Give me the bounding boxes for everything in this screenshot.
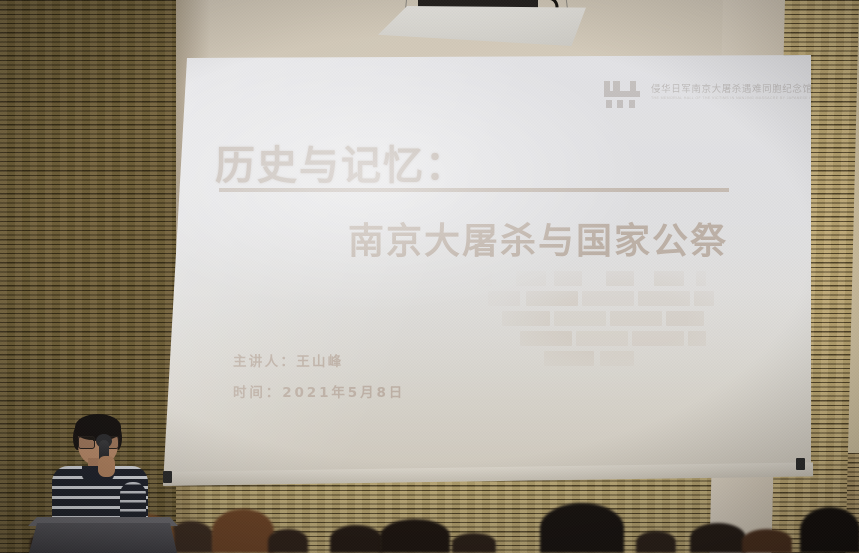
- brick: [502, 311, 550, 326]
- brick: [610, 311, 662, 326]
- brick: [688, 331, 706, 346]
- brick-wall-graphic: [458, 271, 723, 371]
- brick: [516, 271, 546, 286]
- title-divider-rule: [219, 188, 729, 192]
- memorial-emblem-icon: [604, 81, 644, 107]
- audience-head: [380, 519, 450, 553]
- brick: [488, 291, 520, 306]
- ceiling-projector: [378, 0, 588, 52]
- audience-head: [268, 529, 308, 553]
- audience-head: [330, 525, 382, 553]
- presentation-slide: 侵华日军南京大屠杀遇难同胞纪念馆 THE MEMORIAL HALL OF TH…: [163, 55, 811, 485]
- brick: [478, 271, 492, 286]
- audience-head: [800, 507, 859, 553]
- brick: [694, 291, 714, 306]
- brick: [554, 271, 582, 286]
- brick: [582, 291, 634, 306]
- brick: [638, 291, 690, 306]
- memorial-hall-logo: 侵华日军南京大屠杀遇难同胞纪念馆 THE MEMORIAL HALL OF TH…: [604, 77, 774, 113]
- audience-head: [452, 533, 496, 553]
- brick: [520, 331, 572, 346]
- presenter-hand: [98, 456, 115, 477]
- brick: [606, 271, 634, 286]
- podium: [28, 523, 178, 553]
- slide-title-sub: 南京大屠杀与国家公祭: [348, 212, 728, 264]
- screen-bar-end-right: [796, 458, 805, 470]
- slide-title-main: 历史与记忆：: [215, 133, 467, 191]
- brick: [526, 291, 578, 306]
- audience-head: [636, 531, 676, 553]
- audience-head: [540, 503, 624, 553]
- brick: [576, 331, 628, 346]
- brick: [654, 271, 684, 286]
- slide-speaker-line: 主讲人：王山峰: [233, 350, 344, 370]
- brick: [600, 351, 634, 366]
- logo-chinese-text: 侵华日军南京大屠杀遇难同胞纪念馆: [651, 81, 813, 95]
- brick: [632, 331, 684, 346]
- projector-mount-plate: [378, 6, 586, 46]
- brick: [666, 311, 704, 326]
- brick: [696, 271, 706, 286]
- brick: [544, 351, 594, 366]
- lecture-hall-photo: 侵华日军南京大屠杀遇难同胞纪念馆 THE MEMORIAL HALL OF TH…: [0, 0, 859, 553]
- audience-head: [742, 529, 792, 553]
- slide-date-line: 时间：2021年5月8日: [233, 381, 405, 401]
- logo-english-text: THE MEMORIAL HALL OF THE VICTIMS IN NANJ…: [651, 96, 830, 100]
- audience-head: [690, 523, 746, 553]
- audience-head: [212, 509, 274, 553]
- brick: [554, 311, 606, 326]
- presenter-at-podium: [28, 404, 178, 553]
